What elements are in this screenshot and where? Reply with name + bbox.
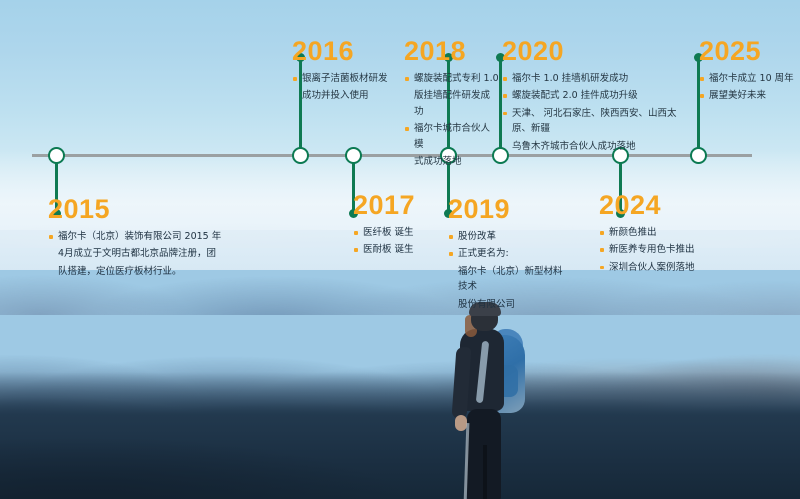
hiker-leg-gap — [483, 445, 487, 499]
milestone-year-2016: 2016 — [292, 38, 397, 65]
bullet-continuation: 福尔卡（北京）新型材料技术 — [448, 264, 563, 295]
bullet-continuation: 成功并投入使用 — [292, 88, 397, 103]
milestone-bullets-2020: 福尔卡 1.0 挂墙机研发成功螺旋装配式 2.0 挂件成功升级天津、 河北石家庄… — [502, 71, 692, 154]
milestone-year-2024: 2024 — [599, 192, 709, 219]
timeline-infographic: 2015福尔卡（北京）装饰有限公司 2015 年4月成立于文明古都北京品牌注册，… — [0, 0, 800, 499]
milestone-block-2020: 2020福尔卡 1.0 挂墙机研发成功螺旋装配式 2.0 挂件成功升级天津、 河… — [502, 38, 692, 156]
milestone-bullets-2017: 医纤板 诞生医耐板 诞生 — [353, 225, 448, 258]
bullet-continuation: 乌鲁木齐城市合伙人成功落地 — [502, 139, 692, 154]
bullet-item: 福尔卡成立 10 周年 — [699, 71, 799, 86]
bullet-item: 天津、 河北石家庄、陕西西安、山西太原、新疆 — [502, 106, 692, 137]
bullet-item: 股份改革 — [448, 229, 563, 244]
milestone-bullets-2019: 股份改革正式更名为:福尔卡（北京）新型材料技术股份有限公司 — [448, 229, 563, 312]
bullet-item: 深圳合伙人案例落地 — [599, 260, 709, 275]
timeline-node-2025[interactable] — [690, 147, 707, 164]
foreground-ridge — [0, 360, 800, 430]
bullet-item: 螺旋装配式 2.0 挂件成功升级 — [502, 88, 692, 103]
milestone-block-2018: 2018螺旋装配式专利 1.0版挂墙配件研发成功福尔卡城市合伙人模式成功落地 — [404, 38, 499, 171]
bullet-item: 福尔卡城市合伙人模 — [404, 121, 499, 152]
milestone-block-2016: 2016银离子洁菌板材研发成功并投入使用 — [292, 38, 397, 106]
bullet-item: 福尔卡 1.0 挂墙机研发成功 — [502, 71, 692, 86]
bullet-item: 新颜色推出 — [599, 225, 709, 240]
bullet-item: 正式更名为: — [448, 246, 563, 261]
milestone-block-2025: 2025福尔卡成立 10 周年展望美好未来 — [699, 38, 799, 106]
milestone-year-2020: 2020 — [502, 38, 692, 65]
milestone-block-2024: 2024新颜色推出新医养专用色卡推出深圳合伙人案例落地 — [599, 192, 709, 277]
bullet-continuation: 4月成立于文明古都北京品牌注册，团 — [48, 246, 223, 261]
timeline-node-2016[interactable] — [292, 147, 309, 164]
milestone-bullets-2015: 福尔卡（北京）装饰有限公司 2015 年4月成立于文明古都北京品牌注册，团队搭建… — [48, 229, 223, 279]
bullet-item: 新医养专用色卡推出 — [599, 242, 709, 257]
milestone-block-2015: 2015福尔卡（北京）装饰有限公司 2015 年4月成立于文明古都北京品牌注册，… — [48, 196, 223, 281]
timeline-node-2017[interactable] — [345, 147, 362, 164]
milestone-year-2018: 2018 — [404, 38, 499, 65]
milestone-year-2025: 2025 — [699, 38, 799, 65]
milestone-bullets-2024: 新颜色推出新医养专用色卡推出深圳合伙人案例落地 — [599, 225, 709, 275]
bullet-continuation: 队搭建，定位医疗板材行业。 — [48, 264, 223, 279]
milestone-bullets-2016: 银离子洁菌板材研发成功并投入使用 — [292, 71, 397, 104]
milestone-year-2017: 2017 — [353, 192, 448, 219]
bullet-continuation: 版挂墙配件研发成功 — [404, 88, 499, 119]
bullet-item: 医耐板 诞生 — [353, 242, 448, 257]
bullet-item: 医纤板 诞生 — [353, 225, 448, 240]
timeline-node-2015[interactable] — [48, 147, 65, 164]
milestone-year-2019: 2019 — [448, 196, 563, 223]
bullet-item: 螺旋装配式专利 1.0 — [404, 71, 499, 86]
hiker-figure — [443, 305, 558, 499]
milestone-bullets-2018: 螺旋装配式专利 1.0版挂墙配件研发成功福尔卡城市合伙人模式成功落地 — [404, 71, 499, 169]
bullet-item: 展望美好未来 — [699, 88, 799, 103]
bullet-item: 福尔卡（北京）装饰有限公司 2015 年 — [48, 229, 223, 244]
bullet-item: 银离子洁菌板材研发 — [292, 71, 397, 86]
milestone-block-2019: 2019股份改革正式更名为:福尔卡（北京）新型材料技术股份有限公司 — [448, 196, 563, 314]
bullet-continuation: 式成功落地 — [404, 154, 499, 169]
milestone-year-2015: 2015 — [48, 196, 223, 223]
milestone-block-2017: 2017医纤板 诞生医耐板 诞生 — [353, 192, 448, 260]
bullet-continuation: 股份有限公司 — [448, 297, 563, 312]
milestone-bullets-2025: 福尔卡成立 10 周年展望美好未来 — [699, 71, 799, 104]
